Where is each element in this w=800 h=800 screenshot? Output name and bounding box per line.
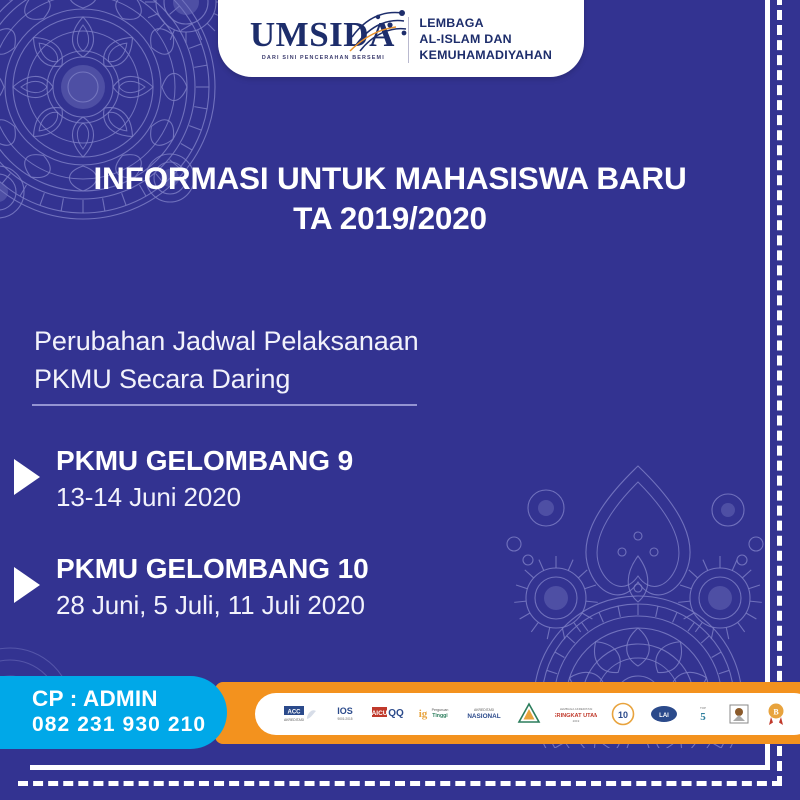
svg-text:NASIONAL: NASIONAL [468,713,501,720]
svg-text:LEMBAGA AKREDITASI: LEMBAGA AKREDITASI [560,707,593,711]
schedule-dates: 28 Juni, 5 Juli, 11 Juli 2020 [56,589,369,621]
svg-text:2019: 2019 [573,719,580,723]
list-item: PKMU GELOMBANG 9 13-14 Juni 2020 [14,444,353,513]
contact-badge: CP : ADMIN 082 231 930 210 [0,676,227,749]
svg-text:TOP: TOP [700,706,706,710]
triangle-right-icon [14,567,40,603]
contact-phone-number: 082 231 930 210 [32,713,227,738]
header-logo-plate: UMSIDA DARI SINI PENCERAHAN BERSEMI [218,0,584,77]
green-shield-icon [517,701,541,727]
svg-text:ACC: ACC [288,710,302,716]
svg-text:B: B [773,708,779,717]
anniversary-circle-icon: 10 [611,701,635,727]
logo-divider [408,17,410,63]
institution-seal-icon [728,701,750,727]
svg-text:ig: ig [419,708,428,720]
institution-line-3: KEMUHAMADIYAHAN [419,48,552,64]
perguruan-tinggi-utama-icon: LEMBAGA AKREDITASI PERINGKAT UTAMA 2019 [555,701,597,727]
partner-logos-strip: ACC AKREDITASI IOS 9001:2015 AICU QQ ig … [255,693,800,735]
akreditasi-nasional-icon: AKREDITASI NASIONAL [466,701,502,727]
iso-certification-icon: IOS 9001:2015 [332,701,358,727]
schedule-dates: 13-14 Juni 2020 [56,481,353,513]
perguruan-tinggi-icon: ig Perguruan Tinggi [418,701,452,727]
triangle-right-icon [14,459,40,495]
schedule-heading: PKMU GELOMBANG 9 [56,444,353,478]
contact-label: CP : ADMIN [32,687,227,712]
lam-badge-icon: LAI [650,701,678,727]
svg-text:Tinggi: Tinggi [432,713,448,719]
subtitle-line-1: Perubahan Jadwal Pelaksanaan [34,322,418,360]
institution-line-1: LEMBAGA [419,16,552,32]
svg-text:5: 5 [700,711,706,723]
akreditasi-badge-icon: ACC AKREDITASI [283,701,317,727]
svg-text:AKREDITASI: AKREDITASI [284,718,304,722]
subtitle-divider [32,404,417,406]
svg-text:9001:2015: 9001:2015 [337,717,352,721]
svg-text:Perguruan: Perguruan [432,708,449,712]
subtitle: Perubahan Jadwal Pelaksanaan PKMU Secara… [34,322,418,399]
list-item: PKMU GELOMBANG 10 28 Juni, 5 Juli, 11 Ju… [14,552,369,621]
poster-canvas: UMSIDA DARI SINI PENCERAHAN BERSEMI [0,0,800,800]
ranking-badge-icon: TOP 5 [692,701,714,727]
subtitle-line-2: PKMU Secara Daring [34,360,418,398]
umsida-logo: UMSIDA DARI SINI PENCERAHAN BERSEMI [250,11,398,69]
institution-name: LEMBAGA AL-ISLAM DAN KEMUHAMADIYAHAN [419,16,552,63]
svg-text:LAI: LAI [659,713,669,719]
title-line-1: INFORMASI UNTUK MAHASISWA BARU [93,160,686,196]
aicu-logo-icon: AICU QQ [372,701,404,727]
institution-line-2: AL-ISLAM DAN [419,32,552,48]
svg-text:AKREDITASI: AKREDITASI [475,708,495,712]
svg-text:AICU: AICU [372,710,388,717]
svg-text:10: 10 [618,710,628,720]
page-title: INFORMASI UNTUK MAHASISWA BARU TA 2019/2… [0,158,780,239]
svg-text:IOS: IOS [337,706,353,716]
schedule-heading: PKMU GELOMBANG 10 [56,552,369,586]
umsida-swoosh-icon [346,7,408,59]
title-line-2: TA 2019/2020 [0,198,780,238]
svg-text:QQ: QQ [388,708,404,719]
award-ribbon-icon: B [765,701,787,727]
